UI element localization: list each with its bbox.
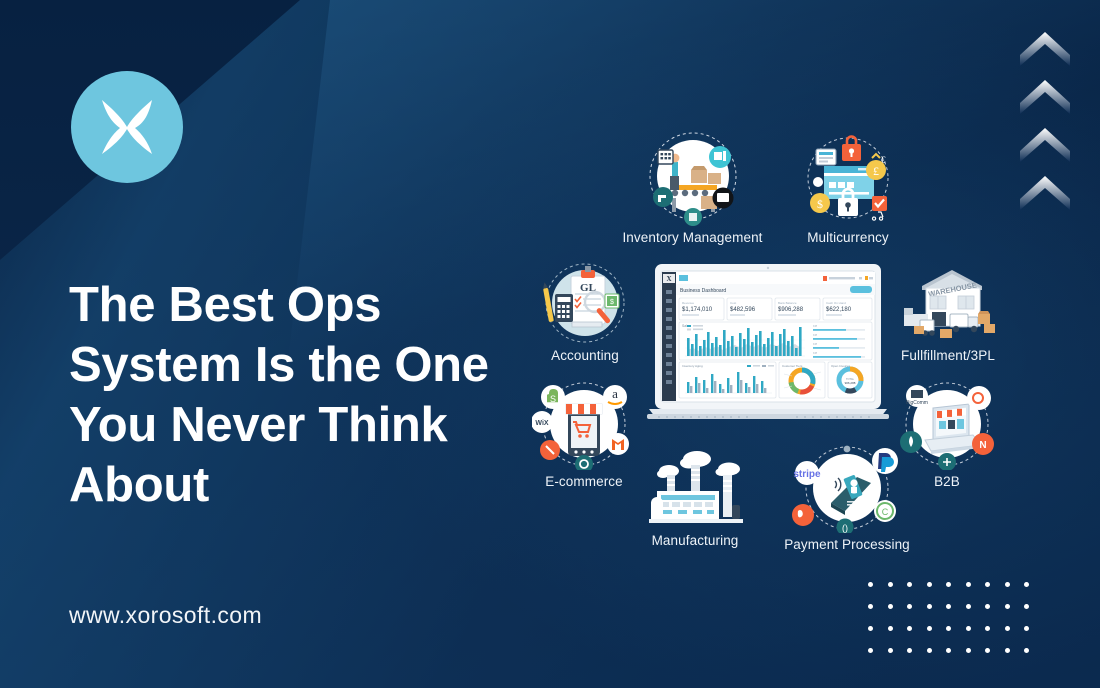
feature-label: Fullfillment/3PL (888, 348, 1008, 363)
dashboard-screen-title: Business Dashboard (680, 288, 726, 294)
grid-dot (985, 648, 990, 653)
kpi-value: $622,180 (826, 307, 852, 313)
svg-text:KPI: KPI (813, 324, 817, 328)
chevron-up-icon (1018, 78, 1072, 116)
svg-text:WiX: WiX (535, 420, 548, 427)
grid-dot (907, 604, 912, 609)
svg-text:a: a (612, 386, 618, 401)
grid-dot (966, 604, 971, 609)
feature-label: E-commerce (525, 474, 643, 489)
mobile-storefront-icon: S a WiX (532, 378, 636, 470)
dot-grid-decoration (868, 582, 1044, 670)
page-title: The Best Ops System Is the One You Never… (69, 275, 521, 515)
grid-dot (1024, 648, 1029, 653)
svg-text:BigComm: BigComm (906, 400, 928, 406)
warehouse-conveyor-icon (641, 132, 745, 226)
grid-dot (868, 582, 873, 587)
xorosoft-x-logo-icon (90, 90, 164, 164)
feature-label: Multicurrency (788, 230, 908, 245)
feature-label: Manufacturing (635, 533, 755, 548)
feature-accounting[interactable]: GL $ Accounting (525, 258, 645, 363)
credit-card-lock-icon: £ $ € (796, 132, 900, 226)
feature-manufacturing[interactable]: Manufacturing (635, 443, 755, 548)
grid-dot (927, 648, 932, 653)
chevron-up-icon (1018, 30, 1072, 68)
website-url[interactable]: www.xorosoft.com (69, 602, 262, 629)
feature-multicurrency[interactable]: £ $ € Multicurrency (788, 132, 908, 245)
grid-dot (985, 582, 990, 587)
grid-dot (888, 604, 893, 609)
grid-dot (868, 604, 873, 609)
grid-dot (966, 582, 971, 587)
grid-dot (946, 626, 951, 631)
logo-circle (71, 71, 183, 183)
svg-text:906,288: 906,288 (845, 381, 856, 385)
svg-text:X: X (666, 275, 671, 283)
grid-dot (946, 604, 951, 609)
grid-dot (966, 648, 971, 653)
svg-text:N: N (979, 440, 986, 451)
panel-title: Customer Tiers (782, 364, 803, 368)
grid-dot (1005, 648, 1010, 653)
grid-dot (888, 626, 893, 631)
svg-text:stripe: stripe (793, 469, 821, 480)
grid-dot (1005, 604, 1010, 609)
grid-dot (868, 626, 873, 631)
feature-label: Accounting (525, 348, 645, 363)
kpi-label: Revenue (682, 301, 694, 305)
brand-logo[interactable] (71, 71, 183, 183)
feature-inventory-management[interactable]: Inventory Management (600, 132, 785, 245)
grid-dot (966, 626, 971, 631)
grid-dot (1024, 626, 1029, 631)
svg-text:S: S (550, 394, 556, 404)
grid-dot (907, 582, 912, 587)
chevron-up-icon (1018, 126, 1072, 164)
grid-dot (888, 582, 893, 587)
kpi-label: Cost (730, 301, 736, 305)
grid-dot (985, 626, 990, 631)
headline-line-3: You Never Think (69, 398, 448, 452)
grid-dot (868, 648, 873, 653)
kpi-label: Bank Balance (778, 301, 797, 305)
grid-dot (927, 626, 932, 631)
panel-title: Inventory Aging (682, 364, 703, 368)
headline-line-4: About (69, 458, 209, 512)
feature-fulfillment-3pl[interactable]: WAREHOUSE Fullfillment/3PL (888, 258, 1008, 363)
factory-icon (637, 443, 753, 529)
kpi-value: $482,596 (730, 307, 756, 313)
feature-label: Payment Processing (782, 537, 912, 552)
laptop-dashboard-screenshot: X Business Dashboard (647, 262, 889, 424)
feature-ecommerce[interactable]: S a WiX E-commerce (525, 378, 643, 489)
grid-dot (946, 582, 951, 587)
svg-text:$: $ (817, 197, 823, 211)
feature-payment-processing[interactable]: stripe C () Payment Processing (782, 443, 912, 552)
grid-dot (907, 648, 912, 653)
svg-text:€: € (881, 155, 886, 165)
general-ledger-clipboard-icon: GL $ (535, 258, 635, 344)
feature-label: Inventory Management (600, 230, 785, 245)
svg-text:$: $ (610, 299, 614, 306)
kpi-label: Cash On Hand (826, 301, 846, 305)
grid-dot (985, 604, 990, 609)
svg-text:KPI: KPI (813, 333, 817, 337)
svg-text:KPI: KPI (813, 351, 817, 355)
grid-dot (1005, 582, 1010, 587)
svg-text:£: £ (873, 164, 879, 178)
kpi-value: $1,174,010 (682, 307, 713, 313)
chevron-decoration-group (1018, 30, 1078, 222)
warehouse-building-icon: WAREHOUSE (896, 258, 1000, 344)
payment-terminal-icon: stripe C () (785, 443, 909, 533)
grid-dot (1024, 604, 1029, 609)
svg-text:C: C (882, 507, 889, 517)
headline-line-2: System Is the One (69, 338, 489, 392)
grid-dot (907, 626, 912, 631)
grid-dot (927, 582, 932, 587)
grid-dot (946, 648, 951, 653)
svg-text:KPI: KPI (813, 342, 817, 346)
chevron-up-icon (1018, 174, 1072, 212)
dashboard-laptop[interactable]: X Business Dashboard (647, 262, 889, 424)
svg-text:(): () (842, 523, 848, 533)
grid-dot (927, 604, 932, 609)
banner-canvas: The Best Ops System Is the One You Never… (0, 0, 1100, 688)
kpi-value: $906,288 (778, 307, 804, 313)
headline-line-1: The Best Ops (69, 278, 381, 332)
grid-dot (1005, 626, 1010, 631)
grid-dot (888, 648, 893, 653)
grid-dot (1024, 582, 1029, 587)
